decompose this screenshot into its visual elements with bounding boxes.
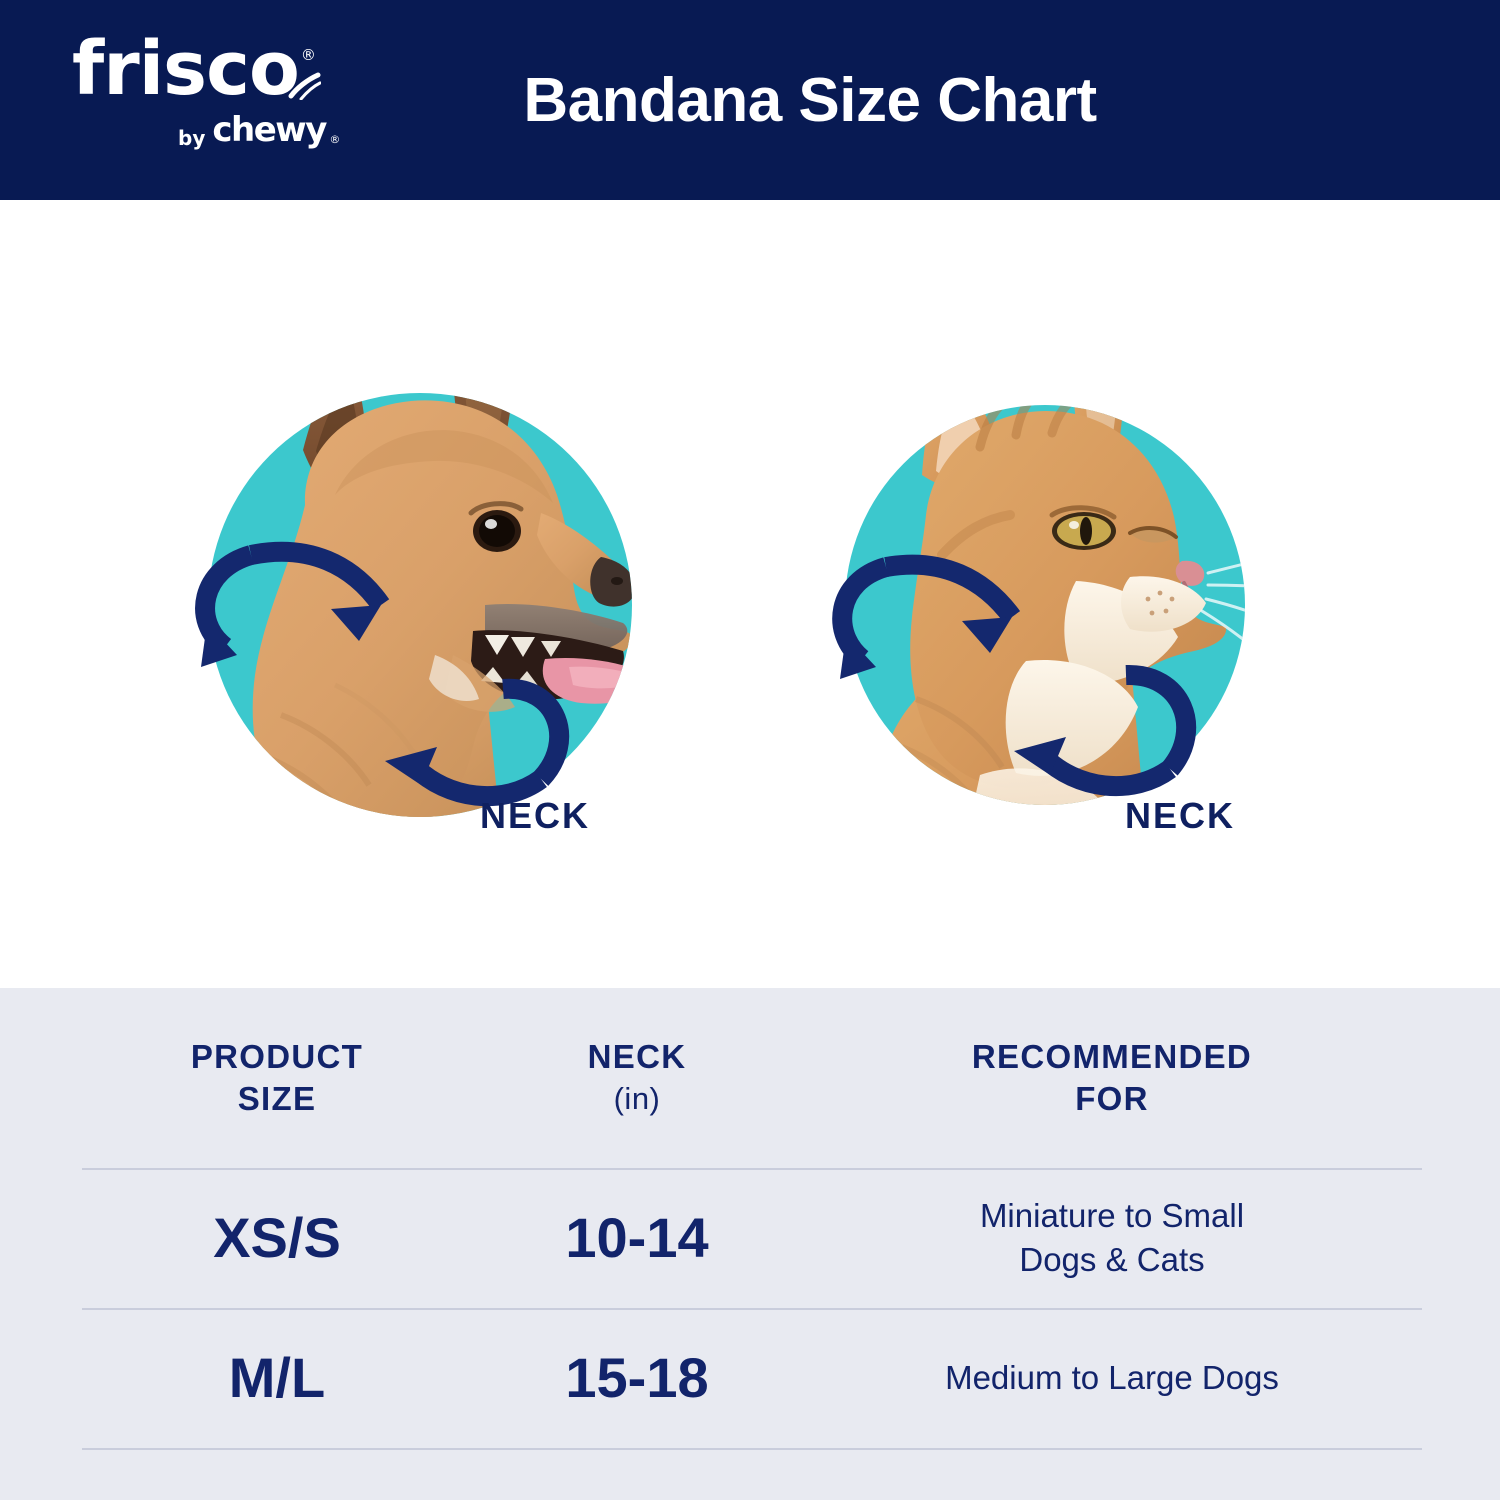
row-divider: [82, 1448, 1422, 1450]
cat-neck-label: NECK: [945, 795, 1415, 837]
brand-wordmark: frisco ®: [72, 30, 299, 108]
cell-product-size: M/L: [82, 1348, 472, 1408]
cell-recommended-for: Medium to Large Dogs: [802, 1356, 1422, 1400]
size-table: PRODUCT SIZE NECK (in) RECOMMENDED FOR X…: [82, 988, 1422, 1452]
cell-product-size: XS/S: [82, 1208, 472, 1268]
row-divider: [82, 1168, 1422, 1170]
cell-recommended-for: Miniature to Small Dogs & Cats: [802, 1194, 1422, 1282]
table-footer-divider-wrap: [82, 1448, 1422, 1452]
table-row: M/L 15-18 Medium to Large Dogs: [82, 1308, 1422, 1448]
dog-neck-label: NECK: [300, 795, 770, 837]
cell-neck-range: 15-18: [472, 1348, 802, 1408]
brand-wordmark-text: frisco: [72, 26, 299, 112]
chewy-registered-trademark-icon: ®: [329, 133, 339, 146]
column-header-recommended-for: RECOMMENDED FOR: [802, 1036, 1422, 1120]
illustration-band: NECK NECK: [0, 200, 1500, 988]
chewy-wordmark-text: chewy: [212, 110, 326, 150]
column-header-product-size: PRODUCT SIZE: [82, 1036, 472, 1120]
dog-tail-swoosh-icon: [287, 36, 321, 70]
column-header-neck: NECK (in): [472, 1036, 802, 1120]
by-chewy-lockup: by chewy ®: [178, 110, 372, 150]
row-divider: [82, 1308, 1422, 1310]
table-row: XS/S 10-14 Miniature to Small Dogs & Cat…: [82, 1168, 1422, 1308]
frisco-logo: frisco ® by chewy ®: [72, 30, 372, 170]
page-header: frisco ® by chewy ® Bandana Size Chart: [0, 0, 1500, 200]
table-header-row: PRODUCT SIZE NECK (in) RECOMMENDED FOR: [82, 988, 1422, 1168]
size-table-section: PRODUCT SIZE NECK (in) RECOMMENDED FOR X…: [0, 988, 1500, 1500]
cell-neck-range: 10-14: [472, 1208, 802, 1268]
size-chart-page: frisco ® by chewy ® Bandana Size Chart: [0, 0, 1500, 1500]
by-label: by: [178, 126, 205, 150]
chewy-wordmark: chewy ®: [212, 110, 326, 150]
